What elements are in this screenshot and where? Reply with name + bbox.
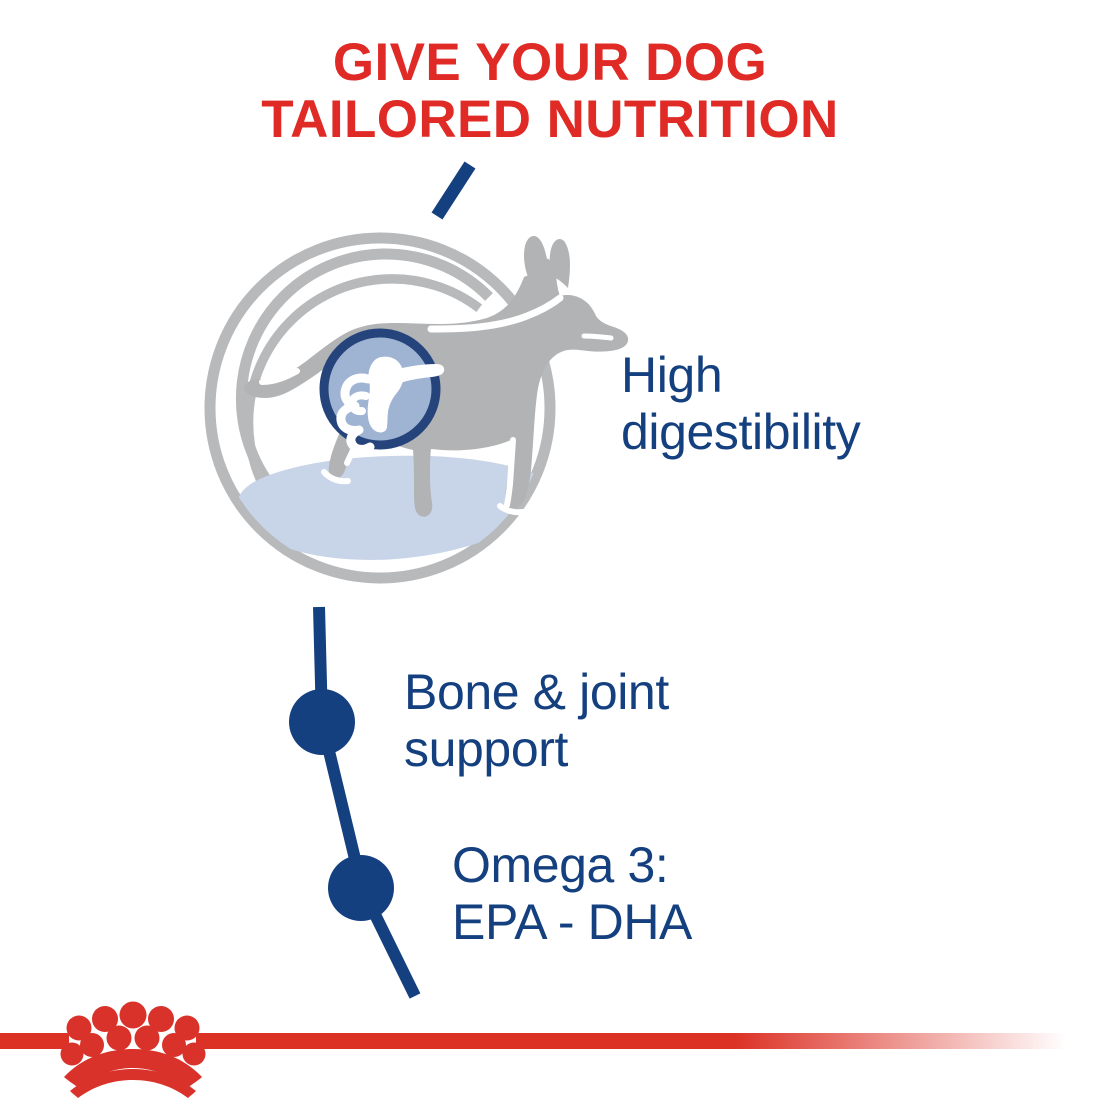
- dog-hindleg-highlight: [347, 428, 364, 463]
- connector-line-group: [289, 165, 470, 996]
- crown-dot-mid-1: [80, 1033, 104, 1057]
- feature-line-2: support: [404, 721, 669, 778]
- crown-dot-mid-4: [162, 1033, 186, 1057]
- stomach-shape: [368, 357, 404, 433]
- dog-tail-highlight: [262, 371, 297, 382]
- connector-tick-top: [437, 165, 470, 216]
- feature-line-1: High: [621, 347, 860, 404]
- connector-dot-1: [289, 689, 355, 755]
- poster-canvas: GIVE YOUR DOG TAILORED NUTRITION: [0, 0, 1100, 1100]
- dog-body: [244, 258, 628, 516]
- dog-foreleg-highlight: [507, 440, 513, 505]
- connector-polyline: [319, 607, 415, 996]
- crown-dot-low-right: [183, 1043, 206, 1066]
- brand-bar-left: [0, 1033, 69, 1049]
- dog-ear-back: [550, 239, 570, 288]
- crown-dot-mid-3: [135, 1026, 160, 1051]
- footer-brand-bar: [0, 990, 1100, 1100]
- crown-dot-mid-2: [107, 1026, 132, 1051]
- intestine-coil: [341, 378, 370, 449]
- inner-arc-2: [241, 254, 489, 500]
- dog-paw-outline-front: [500, 506, 523, 512]
- dog-silhouette: [244, 236, 628, 517]
- highlight-ring: [324, 333, 436, 445]
- ground-shadow-group: [237, 456, 554, 560]
- feature-label-omega-3: Omega 3: EPA - DHA: [452, 837, 692, 951]
- dog-neck-highlight: [431, 298, 560, 329]
- feature-line-1: Bone & joint: [404, 664, 669, 721]
- headline-line-1: GIVE YOUR DOG: [0, 34, 1100, 91]
- connector-dot-2: [328, 855, 394, 921]
- digestive-highlight: [324, 333, 444, 449]
- intestine-coil-2: [352, 395, 366, 411]
- dog-muzzle-highlight: [584, 336, 611, 338]
- ground-shadow: [237, 456, 554, 560]
- dog-ear-front: [524, 236, 550, 277]
- feature-line-2: EPA - DHA: [452, 894, 692, 951]
- feature-label-bone-joint-support: Bone & joint support: [404, 664, 669, 778]
- page-title: GIVE YOUR DOG TAILORED NUTRITION: [0, 34, 1100, 148]
- outer-ring: [210, 238, 550, 578]
- royal-canin-crown-logo: [61, 1002, 206, 1099]
- feature-line-2: digestibility: [621, 404, 860, 461]
- feature-line-1: Omega 3:: [452, 837, 692, 894]
- duodenum-shape: [398, 364, 444, 383]
- brand-bar-right: [196, 1033, 1066, 1049]
- feature-label-high-digestibility: High digestibility: [621, 347, 860, 461]
- highlight-disc: [324, 333, 436, 445]
- dog-paw-outline-rear: [324, 472, 348, 481]
- crown-dot-top-3: [120, 1002, 147, 1029]
- headline-line-2: TAILORED NUTRITION: [0, 91, 1100, 148]
- inner-arc: [249, 279, 480, 510]
- crown-dot-low-left: [61, 1043, 84, 1066]
